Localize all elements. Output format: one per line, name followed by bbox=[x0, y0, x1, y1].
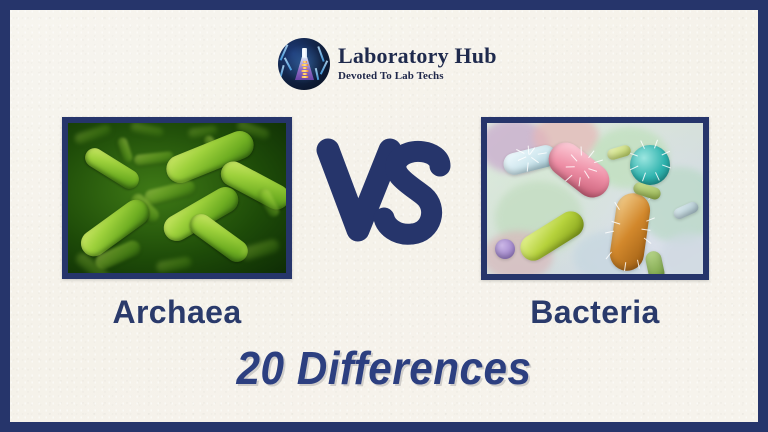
brand-text: Laboratory Hub Devoted To Lab Techs bbox=[338, 44, 497, 83]
brand-tagline: Devoted To Lab Techs bbox=[338, 70, 497, 83]
dna-helix-icon bbox=[301, 61, 309, 78]
poster-canvas: Laboratory Hub Devoted To Lab Techs bbox=[0, 0, 768, 432]
bacteria-image-frame bbox=[481, 117, 709, 280]
archaea-micrograph bbox=[68, 123, 286, 273]
vs-badge bbox=[312, 134, 458, 252]
flask-icon bbox=[295, 48, 314, 80]
spikes-icon bbox=[623, 138, 677, 192]
lightning-bolt-icon bbox=[279, 65, 284, 78]
archaea-image-frame bbox=[62, 117, 292, 279]
brand-title: Laboratory Hub bbox=[338, 44, 497, 67]
bacteria-caption: Bacteria bbox=[481, 292, 709, 332]
bacteria-illustration bbox=[487, 123, 703, 274]
flask-dna-lightning-icon bbox=[278, 38, 330, 90]
brand-header: Laboratory Hub Devoted To Lab Techs bbox=[278, 37, 508, 91]
headline-text: 20 Differences bbox=[31, 341, 738, 395]
archaea-caption: Archaea bbox=[62, 292, 292, 332]
flask-neck bbox=[302, 48, 307, 58]
